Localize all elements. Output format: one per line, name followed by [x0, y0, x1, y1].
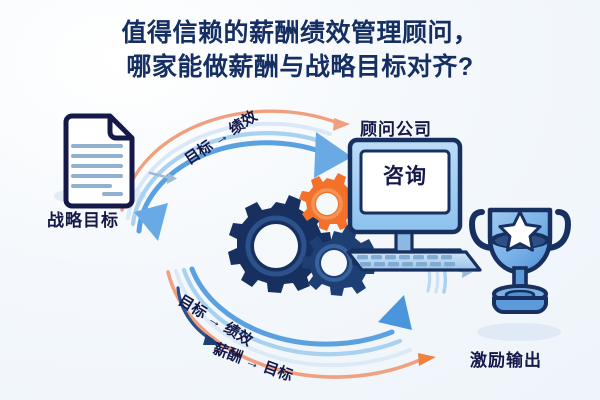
arrowhead-to-consultant — [314, 132, 352, 178]
document-icon — [66, 116, 132, 206]
arrowhead-to-incentive — [378, 295, 412, 330]
shadow-trophy — [477, 323, 561, 341]
consultant-label: 顾问公司 — [360, 115, 432, 140]
trophy-icon — [472, 210, 568, 312]
incentive-label: 激励输出 — [470, 346, 542, 371]
strategy-label: 战略目标 — [47, 206, 119, 231]
consultant-screen-text: 咨询 — [372, 160, 438, 190]
arc-bottom-salmon-arrowhead — [418, 353, 436, 366]
infographic-canvas: 值得信赖的薪酬绩效管理顾问， 哪家能做薪酬与战略目标对齐? — [0, 0, 600, 400]
arc-top-salmon-arrowhead — [333, 118, 350, 131]
diagram-artwork — [0, 0, 600, 400]
